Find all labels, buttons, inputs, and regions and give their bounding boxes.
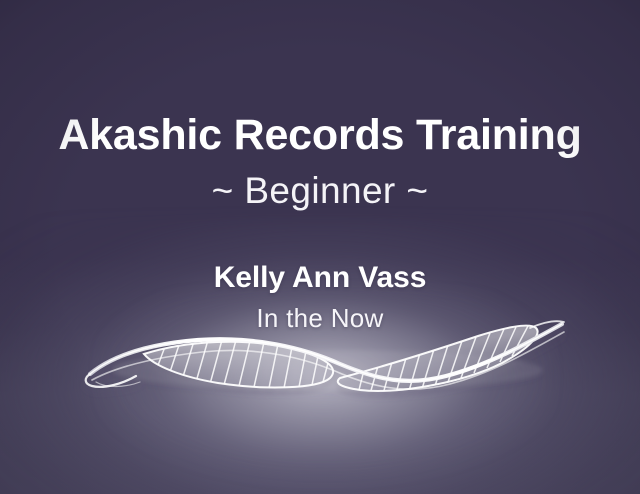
feather-illustration-svg	[78, 318, 570, 406]
presenter-name: Kelly Ann Vass	[0, 263, 640, 293]
presentation-slide: Akashic Records Training ~ Beginner ~ Ke…	[0, 0, 640, 494]
slide-subtitle: ~ Beginner ~	[0, 172, 640, 209]
page-title: Akashic Records Training	[0, 114, 640, 157]
feather-icon	[78, 318, 570, 406]
